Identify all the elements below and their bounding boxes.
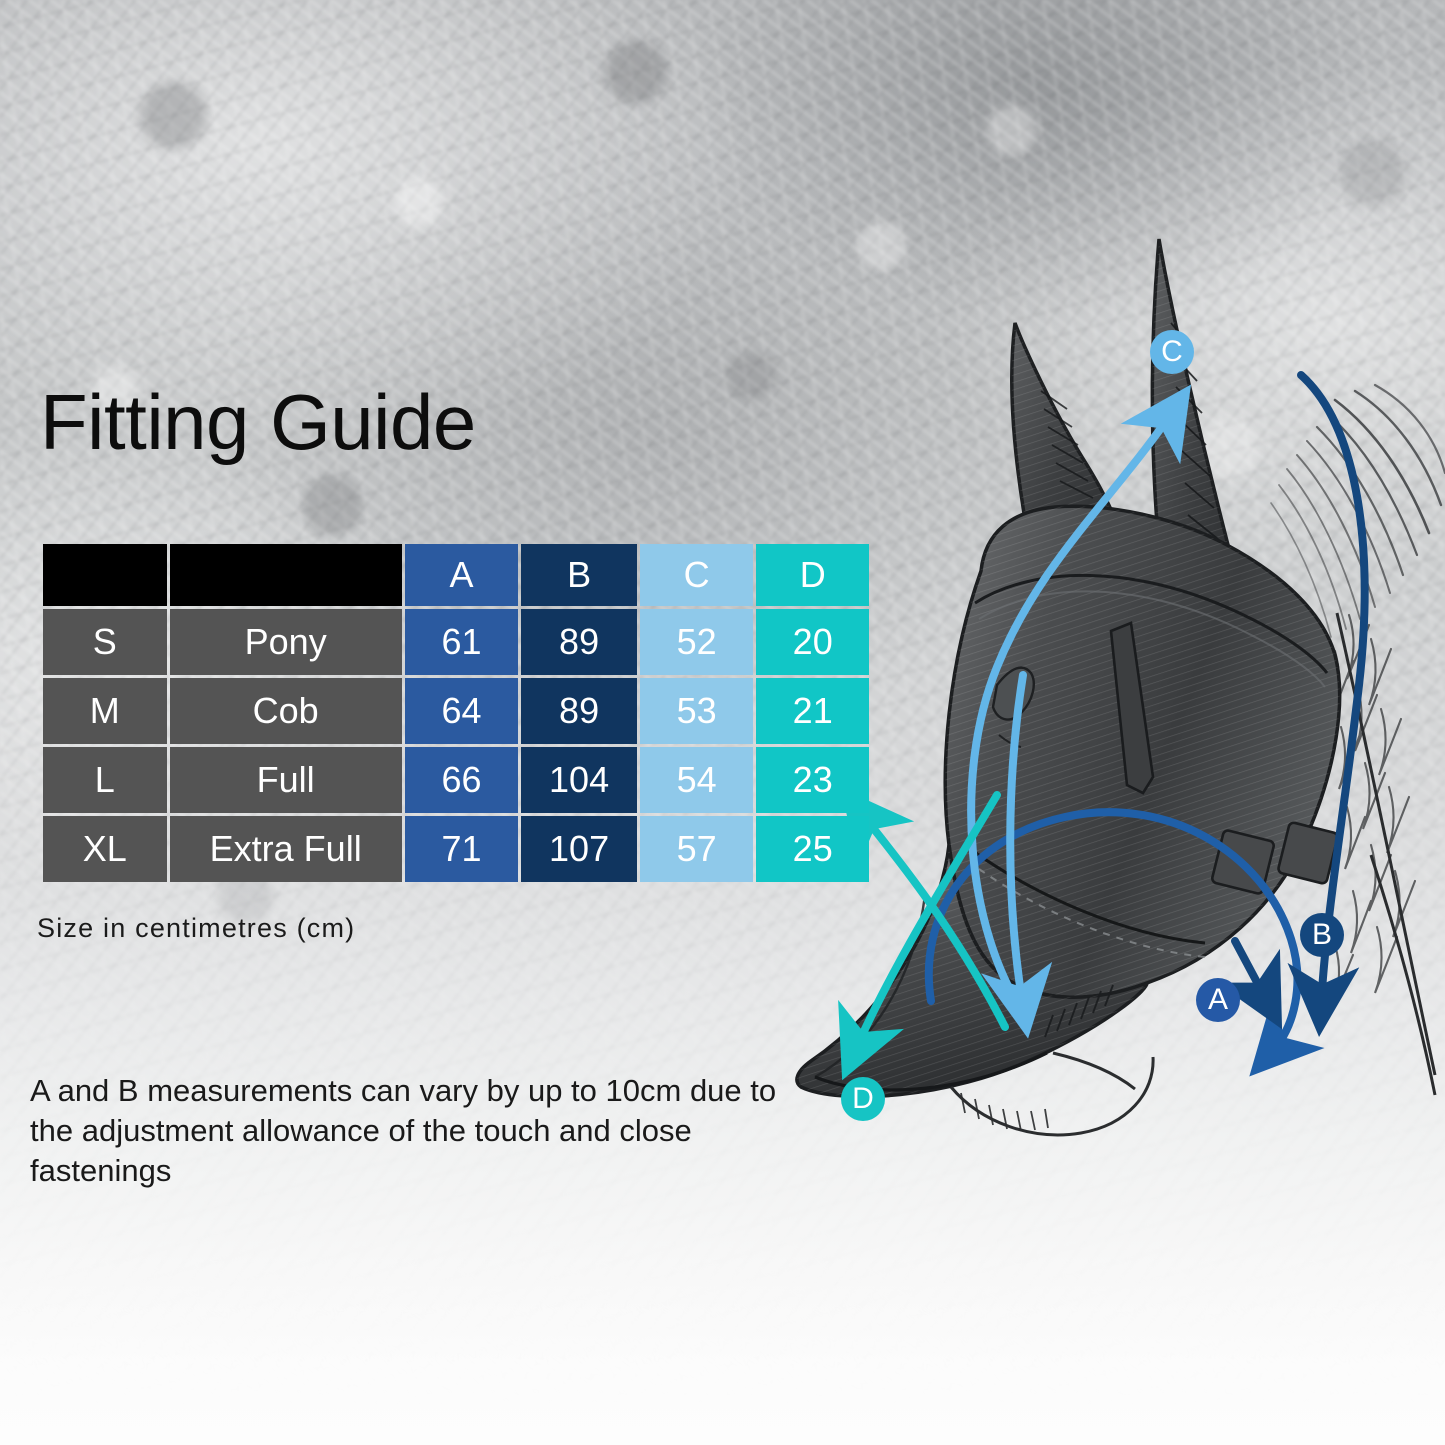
- row-size: L: [43, 747, 167, 813]
- row-value-d: 21: [756, 678, 869, 744]
- header-blank-name: [170, 544, 402, 606]
- row-name: Cob: [170, 678, 402, 744]
- measurement-marker-b: B: [1300, 913, 1344, 957]
- row-value-c: 57: [640, 816, 754, 882]
- size-chart-table: A B C D S Pony 61 89 52 20 M Cob 64 89 5…: [40, 541, 872, 885]
- measurement-marker-c: C: [1150, 330, 1194, 374]
- row-value-c: 54: [640, 747, 754, 813]
- row-value-d: 25: [756, 816, 869, 882]
- header-col-c: C: [640, 544, 754, 606]
- row-value-c: 53: [640, 678, 754, 744]
- fitting-guide-page: A B C D Fitting Guide A B C D S Pony 61 …: [0, 0, 1445, 1445]
- header-col-b: B: [521, 544, 637, 606]
- row-value-b: 104: [521, 747, 637, 813]
- row-value-b: 89: [521, 678, 637, 744]
- row-name: Extra Full: [170, 816, 402, 882]
- header-col-d: D: [756, 544, 869, 606]
- table-row: M Cob 64 89 53 21: [43, 678, 869, 744]
- measurement-marker-d: D: [841, 1077, 885, 1121]
- header-blank-size: [43, 544, 167, 606]
- row-value-d: 20: [756, 609, 869, 675]
- row-value-a: 71: [405, 816, 519, 882]
- page-title: Fitting Guide: [40, 383, 476, 461]
- row-name: Pony: [170, 609, 402, 675]
- fitting-note: A and B measurements can vary by up to 1…: [30, 1071, 820, 1191]
- row-value-b: 89: [521, 609, 637, 675]
- measurement-marker-a: A: [1196, 978, 1240, 1022]
- table-header-row: A B C D: [43, 544, 869, 606]
- row-name: Full: [170, 747, 402, 813]
- mask-velcro-tab-2: [1277, 822, 1338, 885]
- row-value-a: 64: [405, 678, 519, 744]
- row-value-d: 23: [756, 747, 869, 813]
- row-value-b: 107: [521, 816, 637, 882]
- row-value-c: 52: [640, 609, 754, 675]
- row-value-a: 61: [405, 609, 519, 675]
- row-size: M: [43, 678, 167, 744]
- row-size: XL: [43, 816, 167, 882]
- measure-arrow-b-pointer: [1235, 941, 1267, 1001]
- table-units-caption: Size in centimetres (cm): [37, 913, 355, 944]
- row-size: S: [43, 609, 167, 675]
- header-col-a: A: [405, 544, 519, 606]
- row-value-a: 66: [405, 747, 519, 813]
- table-row: S Pony 61 89 52 20: [43, 609, 869, 675]
- table-row: L Full 66 104 54 23: [43, 747, 869, 813]
- table-row: XL Extra Full 71 107 57 25: [43, 816, 869, 882]
